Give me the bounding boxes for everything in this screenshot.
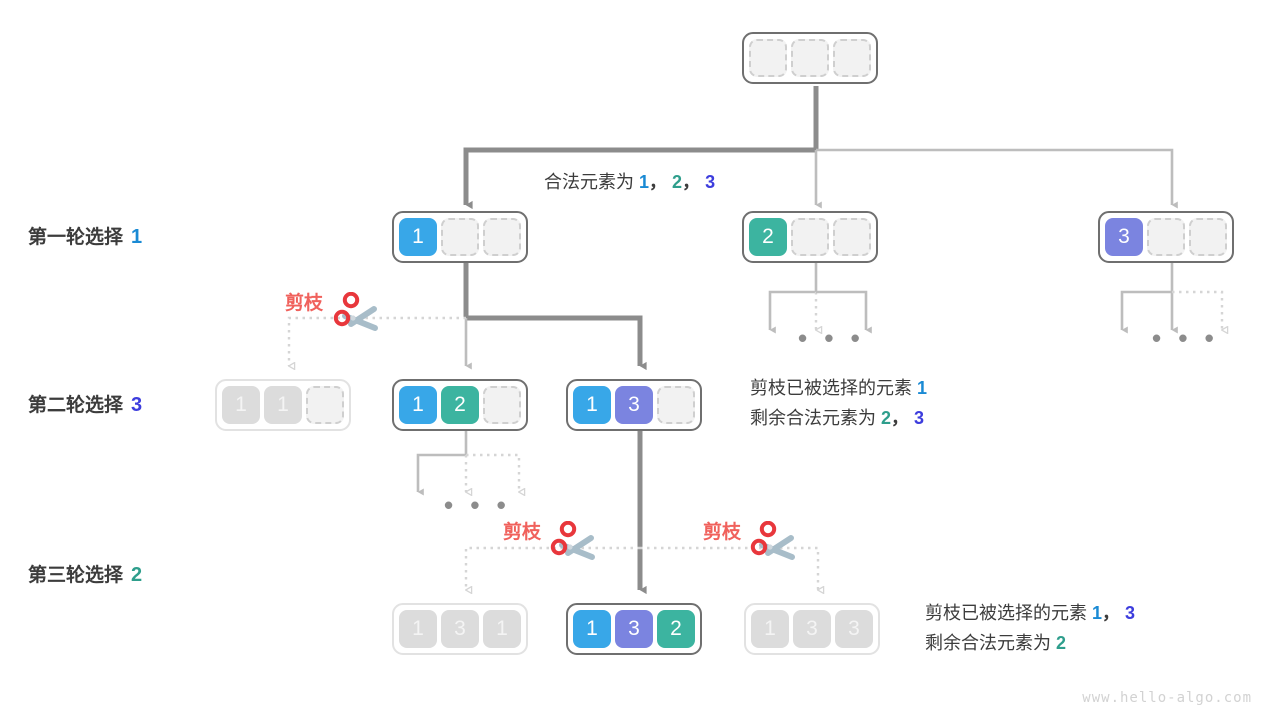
annotation-value: 2 xyxy=(672,172,682,192)
node-cell: 1 xyxy=(399,218,437,256)
node-root[interactable] xyxy=(742,32,878,84)
row-label-value: 2 xyxy=(131,564,142,586)
ellipsis-under-node3: • • • xyxy=(1152,325,1219,351)
node-cell: 1 xyxy=(573,386,611,424)
node-cell: 1 xyxy=(399,610,437,648)
node-cell: 3 xyxy=(441,610,479,648)
annotation-comma: ， xyxy=(1102,603,1120,623)
node-cell xyxy=(657,386,695,424)
annotation-line: 剩余合法元素为 2 xyxy=(925,628,1135,658)
annotation-value: 3 xyxy=(705,172,715,192)
node-cell: 3 xyxy=(793,610,831,648)
annotation-level2: 剪枝已被选择的元素 1 剩余合法元素为 2， 3 xyxy=(750,373,927,433)
node-cell xyxy=(441,218,479,256)
scissors-icon xyxy=(748,521,800,567)
annotation-value: 1 xyxy=(639,172,649,192)
node-level3-132[interactable]: 1 3 2 xyxy=(566,603,702,655)
annotation-value: 3 xyxy=(914,408,924,428)
scissors-icon xyxy=(548,521,600,567)
row-label-2: 第二轮选择3 xyxy=(28,390,142,417)
annotation-comma: ， xyxy=(649,172,667,192)
node-cell: 3 xyxy=(835,610,873,648)
row-label-3: 第三轮选择2 xyxy=(28,560,142,587)
watermark: www.hello-algo.com xyxy=(1082,690,1252,706)
annotation-value: 2 xyxy=(1056,633,1066,653)
row-label-text: 第二轮选择 xyxy=(28,395,123,416)
node-cell xyxy=(483,386,521,424)
node-cell xyxy=(749,39,787,77)
row-label-text: 第一轮选择 xyxy=(28,227,123,248)
node-cell: 1 xyxy=(264,386,302,424)
node-cell xyxy=(306,386,344,424)
annotation-prefix: 剩余合法元素为 xyxy=(925,633,1051,653)
node-cell: 2 xyxy=(441,386,479,424)
node-cell: 2 xyxy=(657,610,695,648)
annotation-line: 剪枝已被选择的元素 1 xyxy=(750,373,927,403)
node-cell: 2 xyxy=(749,218,787,256)
edge-root-to-n3 xyxy=(816,150,1172,205)
prune-label: 剪枝 xyxy=(503,517,541,544)
edge-12-c3 xyxy=(466,455,519,492)
node-cell: 1 xyxy=(222,386,260,424)
edge-n1-to-13 xyxy=(466,318,640,366)
annotation-value: 3 xyxy=(1125,603,1135,623)
node-cell: 3 xyxy=(615,386,653,424)
annotation-legal-elements: 合法元素为 1， 2， 3 xyxy=(544,167,715,197)
node-level3-pruned-right[interactable]: 1 3 3 xyxy=(744,603,880,655)
prune-label: 剪枝 xyxy=(285,288,323,315)
node-cell xyxy=(791,39,829,77)
annotation-prefix: 剪枝已被选择的元素 xyxy=(750,378,912,398)
annotation-line: 剩余合法元素为 2， 3 xyxy=(750,403,927,433)
row-label-text: 第三轮选择 xyxy=(28,565,123,586)
node-cell xyxy=(483,218,521,256)
annotation-comma: ， xyxy=(891,408,909,428)
node-cell xyxy=(791,218,829,256)
node-cell: 1 xyxy=(399,386,437,424)
node-cell xyxy=(833,218,871,256)
diagram-canvas: 剪枝 剪枝 剪枝 第一轮选择1 第二轮选择3 第三轮选择2 1 2 3 1 1 xyxy=(0,0,1280,720)
node-level1-2[interactable]: 2 xyxy=(742,211,878,263)
node-cell: 1 xyxy=(483,610,521,648)
node-level2-12[interactable]: 1 2 xyxy=(392,379,528,431)
node-level2-pruned[interactable]: 1 1 xyxy=(215,379,351,431)
prune-label: 剪枝 xyxy=(703,517,741,544)
node-cell: 1 xyxy=(751,610,789,648)
annotation-value: 1 xyxy=(1092,603,1102,623)
row-label-1: 第一轮选择1 xyxy=(28,222,142,249)
ellipsis-under-node12: • • • xyxy=(444,492,511,518)
node-cell xyxy=(1189,218,1227,256)
annotation-value: 2 xyxy=(881,408,891,428)
node-cell: 1 xyxy=(573,610,611,648)
annotation-prefix: 剩余合法元素为 xyxy=(750,408,876,428)
node-level2-13[interactable]: 1 3 xyxy=(566,379,702,431)
node-cell xyxy=(1147,218,1185,256)
edge-12-c1 xyxy=(418,455,466,492)
annotation-level3: 剪枝已被选择的元素 1， 3 剩余合法元素为 2 xyxy=(925,598,1135,658)
annotation-comma: ， xyxy=(682,172,700,192)
annotation-value: 1 xyxy=(917,378,927,398)
node-level1-3[interactable]: 3 xyxy=(1098,211,1234,263)
node-level3-pruned-left[interactable]: 1 3 1 xyxy=(392,603,528,655)
annotation-prefix: 合法元素为 xyxy=(544,172,634,192)
row-label-value: 1 xyxy=(131,226,142,248)
node-cell: 3 xyxy=(1105,218,1143,256)
node-cell: 3 xyxy=(615,610,653,648)
ellipsis-under-node2: • • • xyxy=(798,325,865,351)
node-cell xyxy=(833,39,871,77)
annotation-line: 剪枝已被选择的元素 1， 3 xyxy=(925,598,1135,628)
annotation-prefix: 剪枝已被选择的元素 xyxy=(925,603,1087,623)
row-label-value: 3 xyxy=(131,394,142,416)
scissors-icon xyxy=(331,292,383,338)
node-level1-1[interactable]: 1 xyxy=(392,211,528,263)
